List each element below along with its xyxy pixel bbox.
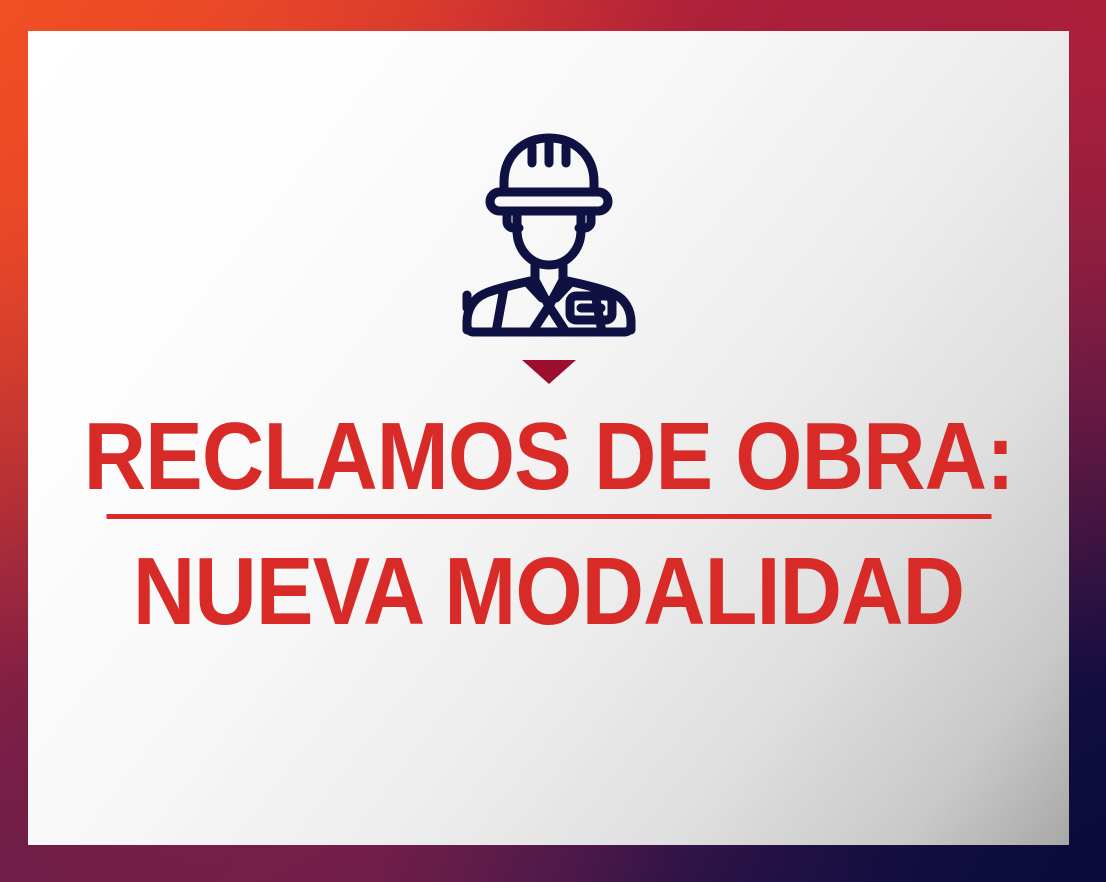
construction-worker-icon: [460, 130, 638, 338]
poster-title-line-1: RECLAMOS DE OBRA:: [83, 409, 1013, 505]
title-line-1-wrapper: RECLAMOS DE OBRA:: [32, 409, 1066, 520]
poster-title-line-2: NUEVA MODALIDAD: [80, 544, 1017, 640]
poster-card: RECLAMOS DE OBRA: NUEVA MODALIDAD: [0, 0, 1106, 882]
poster-title-block: RECLAMOS DE OBRA: NUEVA MODALIDAD: [28, 409, 1069, 640]
worker-icon-container: [28, 130, 1069, 338]
down-triangle-icon: [522, 360, 576, 384]
divider-container: [28, 360, 1069, 384]
title-underline: [106, 514, 991, 519]
poster-inner-panel: RECLAMOS DE OBRA: NUEVA MODALIDAD: [28, 31, 1069, 845]
